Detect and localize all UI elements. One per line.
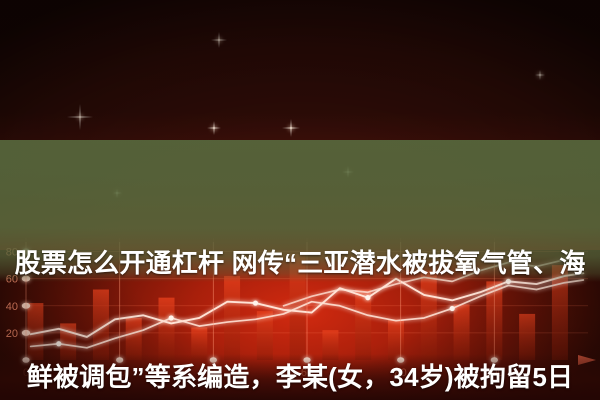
headline-line-2: 鲜被调包”等系编造，李某(女，34岁)被拘留5日 <box>6 358 594 396</box>
headline-line-1: 股票怎么开通杠杆 网传“三亚潜水被拔氧气管、海 <box>6 244 594 282</box>
image-canvas: 20406080020406080100 股票怎么开通杠杆 网传“三亚潜水被拔氧… <box>0 0 600 400</box>
headline-text: 股票怎么开通杠杆 网传“三亚潜水被拔氧气管、海 鲜被调包”等系编造，李某(女，3… <box>0 168 600 400</box>
